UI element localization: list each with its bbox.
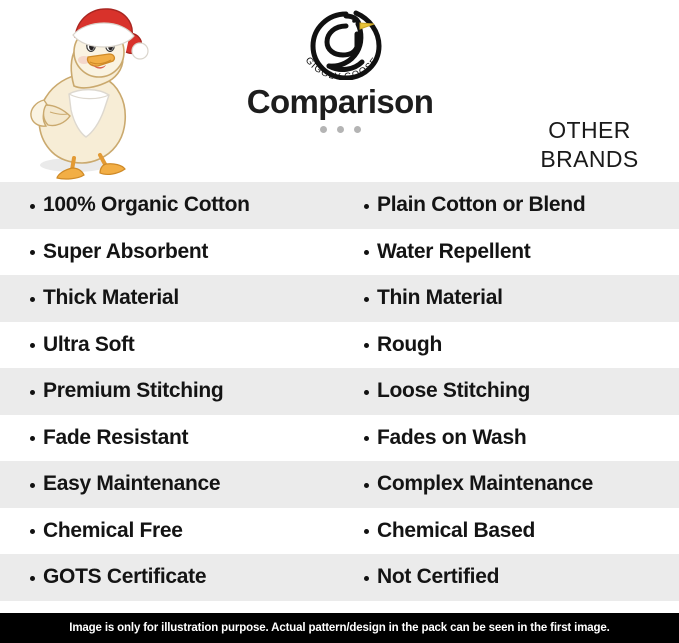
table-row: 100% Organic Cotton Plain Cotton or Blen…	[0, 182, 679, 229]
cell-label: Chemical Free	[43, 519, 183, 543]
table-row: Easy Maintenance Complex Maintenance	[0, 461, 679, 508]
dot-icon	[354, 126, 361, 133]
giggly-goose-logo-icon: GIGGLY GOOSE	[288, 4, 392, 80]
disclaimer-text: Image is only for illustration purpose. …	[69, 622, 609, 634]
comparison-table: 100% Organic Cotton Plain Cotton or Blen…	[0, 182, 679, 601]
cell-label: Thick Material	[43, 286, 179, 310]
bullet-icon	[30, 250, 35, 255]
bullet-icon	[364, 483, 369, 488]
bullet-icon	[30, 390, 35, 395]
dots-separator	[180, 126, 500, 133]
disclaimer-bar: Image is only for illustration purpose. …	[0, 613, 679, 643]
table-cell-ours: Fade Resistant	[0, 415, 340, 462]
other-brands-line-1: OTHER	[500, 116, 679, 145]
table-cell-theirs: Rough	[340, 322, 679, 369]
table-cell-ours: GOTS Certificate	[0, 554, 340, 601]
cell-label: Thin Material	[377, 286, 503, 310]
bullet-icon	[364, 436, 369, 441]
table-row: Thick Material Thin Material	[0, 275, 679, 322]
table-cell-ours: 100% Organic Cotton	[0, 182, 340, 229]
table-cell-theirs: Water Repellent	[340, 229, 679, 276]
cell-label: GOTS Certificate	[43, 565, 206, 589]
bullet-icon	[364, 576, 369, 581]
cell-label: Rough	[377, 333, 442, 357]
bullet-icon	[30, 343, 35, 348]
dot-icon	[320, 126, 327, 133]
cell-label: Chemical Based	[377, 519, 535, 543]
dot-icon	[337, 126, 344, 133]
other-brands-heading: OTHER BRANDS	[500, 116, 679, 174]
table-cell-theirs: Plain Cotton or Blend	[340, 182, 679, 229]
bullet-icon	[364, 204, 369, 209]
table-cell-ours: Premium Stitching	[0, 368, 340, 415]
bullet-icon	[30, 529, 35, 534]
cell-label: Fade Resistant	[43, 426, 188, 450]
table-cell-ours: Super Absorbent	[0, 229, 340, 276]
table-row: Chemical Free Chemical Based	[0, 508, 679, 555]
cell-label: Complex Maintenance	[377, 472, 593, 496]
page-title: Comparison	[180, 82, 500, 122]
bullet-icon	[364, 529, 369, 534]
header: GIGGLY GOOSE Comparison OTHER BRANDS	[0, 0, 679, 182]
other-brands-line-2: BRANDS	[500, 145, 679, 174]
table-row: Fade Resistant Fades on Wash	[0, 415, 679, 462]
table-cell-theirs: Thin Material	[340, 275, 679, 322]
table-row: GOTS Certificate Not Certified	[0, 554, 679, 601]
cell-label: 100% Organic Cotton	[43, 193, 250, 217]
bullet-icon	[364, 343, 369, 348]
bullet-icon	[30, 483, 35, 488]
bullet-icon	[30, 576, 35, 581]
table-cell-theirs: Chemical Based	[340, 508, 679, 555]
cell-label: Fades on Wash	[377, 426, 526, 450]
bullet-icon	[30, 297, 35, 302]
cell-label: Plain Cotton or Blend	[377, 193, 585, 217]
cell-label: Water Repellent	[377, 240, 530, 264]
table-cell-ours: Ultra Soft	[0, 322, 340, 369]
table-row: Super Absorbent Water Repellent	[0, 229, 679, 276]
cell-label: Super Absorbent	[43, 240, 208, 264]
table-cell-theirs: Fades on Wash	[340, 415, 679, 462]
cell-label: Premium Stitching	[43, 379, 223, 403]
table-cell-theirs: Complex Maintenance	[340, 461, 679, 508]
table-cell-ours: Easy Maintenance	[0, 461, 340, 508]
bullet-icon	[364, 297, 369, 302]
table-cell-ours: Thick Material	[0, 275, 340, 322]
table-cell-ours: Chemical Free	[0, 508, 340, 555]
cell-label: Easy Maintenance	[43, 472, 220, 496]
table-cell-theirs: Not Certified	[340, 554, 679, 601]
table-row: Premium Stitching Loose Stitching	[0, 368, 679, 415]
cell-label: Not Certified	[377, 565, 499, 589]
table-row: Ultra Soft Rough	[0, 322, 679, 369]
cell-label: Ultra Soft	[43, 333, 135, 357]
table-cell-theirs: Loose Stitching	[340, 368, 679, 415]
bullet-icon	[364, 390, 369, 395]
bullet-icon	[364, 250, 369, 255]
comparison-infographic: GIGGLY GOOSE Comparison OTHER BRANDS 100…	[0, 0, 679, 643]
bullet-icon	[30, 436, 35, 441]
bullet-icon	[30, 204, 35, 209]
cell-label: Loose Stitching	[377, 379, 530, 403]
goose-with-santa-hat-icon	[12, 2, 152, 180]
